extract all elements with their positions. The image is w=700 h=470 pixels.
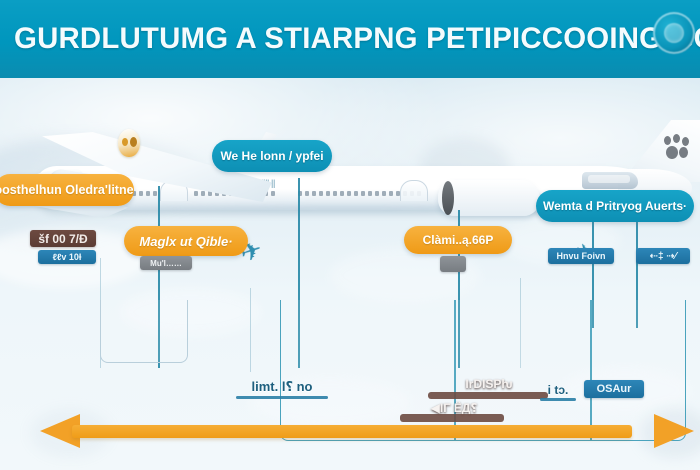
tag-left-price[interactable]: šf 00 7/Đ [30,230,96,247]
note-underline [540,398,576,401]
tag-bottom-right[interactable]: OSAur [584,380,644,398]
note-bottom-left[interactable]: limt. l⸮ no [234,378,330,396]
illustration-canvas: |||||| .'||| || ✈ ✈ We He lonn [0,78,700,470]
bird-mascot-icon [118,129,140,157]
paw-dots-logo-icon [662,134,692,160]
note-underline [400,414,504,422]
note-bottom-center-upper[interactable]: IrDISPƕ [436,376,542,392]
tag-mid-orange-sub[interactable]: Mu'l…… [140,256,192,270]
note-underline [236,396,328,399]
connector-line [298,178,300,258]
arrow-head-right [654,414,694,448]
cockpit-window [582,172,638,189]
tag-right-one[interactable]: Hnvu Foivn [548,248,614,264]
label-right-primary[interactable]: Wemta d Pritryog Auerts· [536,190,694,222]
tag-right-orange-sub[interactable] [440,256,466,272]
note-underline [428,392,548,399]
connector-line [250,288,251,372]
header-bar: GURDLUTUMG A STIARPNG PETIPICCOOING GOSS… [0,0,700,78]
tag-right-two[interactable]: ⇠‡ ⇢⁄ [636,248,690,264]
page-title: GURDLUTUMG A STIARPNG PETIPICCOOING GOSS… [14,17,641,61]
label-top-center[interactable]: We He lonn / ypfei [212,140,332,172]
infographic-stage: GURDLUTUMG A STIARPNG PETIPICCOOING GOSS… [0,0,700,470]
note-bottom-right[interactable]: i tɔ. [540,382,576,398]
circle-emblem-inner [664,23,684,43]
tag-left-price-sub[interactable]: ℓℓv 10Ɨ [38,250,96,264]
label-mid-orange[interactable]: Maglx ut Qible· [124,226,248,256]
label-right-orange[interactable]: Clàmi..ą.66P [404,226,512,254]
label-left-primary[interactable]: oosthelhun Oledra'litne [0,174,134,206]
engine-right [438,180,540,216]
circle-emblem-icon [653,12,695,54]
range-arrow-bar [72,425,632,438]
bracket-box-left [100,300,188,363]
bracket-divider [590,300,592,440]
cabin-door [400,180,428,201]
